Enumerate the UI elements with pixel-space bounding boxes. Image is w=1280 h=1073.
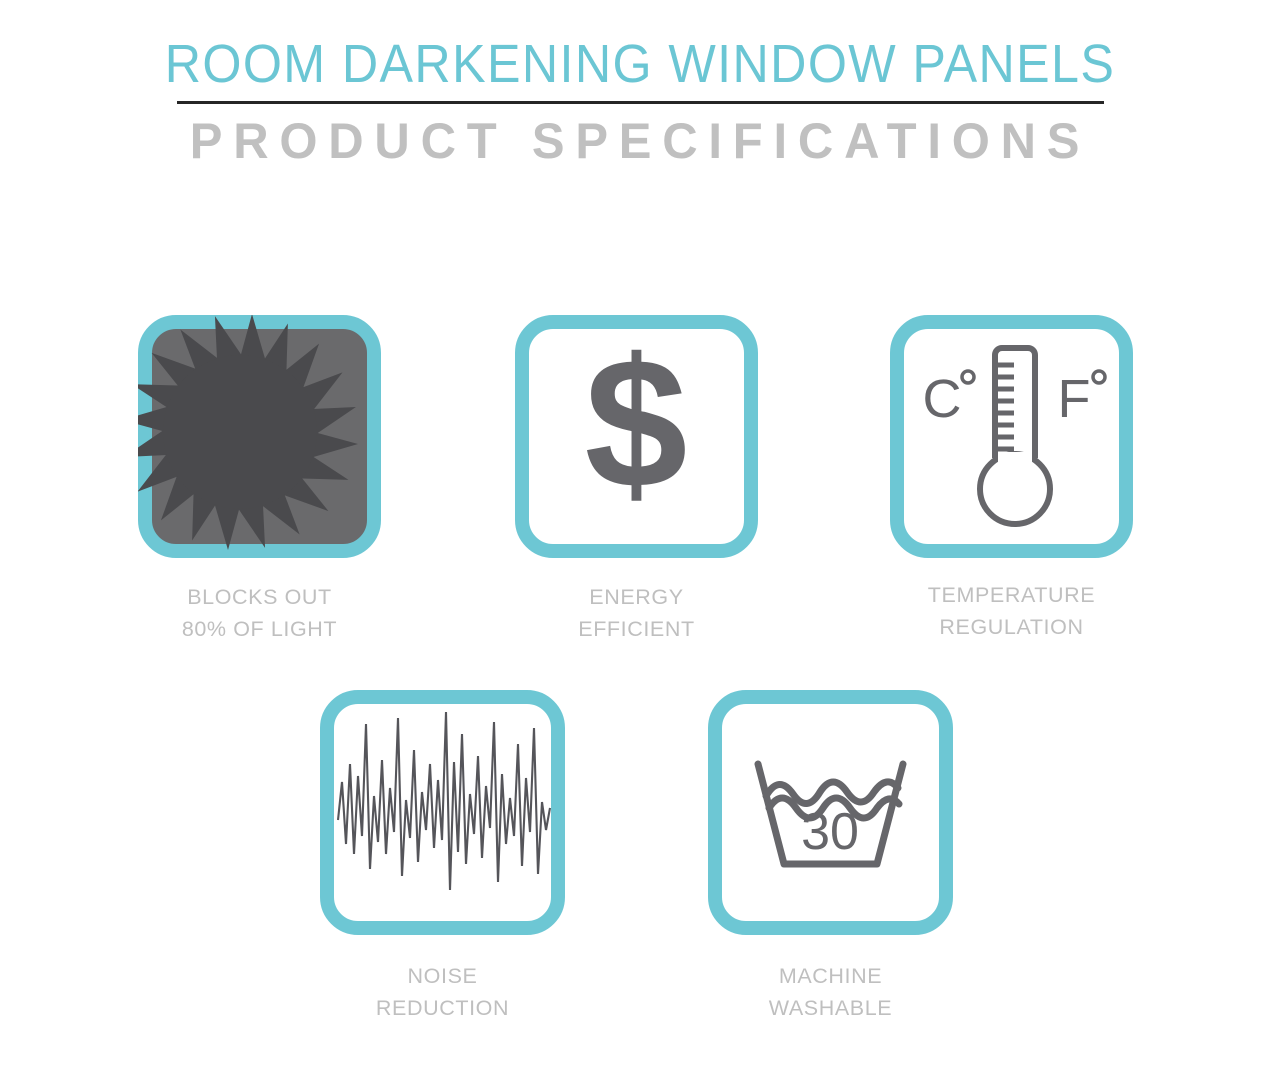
- feature-machine-washable: 30 MACHINE WASHABLE: [708, 690, 953, 1024]
- caption-line-2: REGULATION: [890, 611, 1133, 643]
- dollar-sign-icon: $: [529, 329, 744, 544]
- feature-energy-efficient: $ ENERGY EFFICIENT: [515, 315, 758, 645]
- caption-line-1: NOISE: [320, 960, 565, 992]
- svg-text:F: F: [1058, 369, 1091, 429]
- caption-line-2: EFFICIENT: [515, 613, 758, 645]
- svg-text:$: $: [585, 329, 688, 527]
- caption-line-2: WASHABLE: [708, 992, 953, 1024]
- sound-waveform-icon: [334, 704, 551, 921]
- caption-line-1: BLOCKS OUT: [138, 581, 381, 613]
- feature-noise-reduction: NOISE REDUCTION: [320, 690, 565, 1024]
- caption-machine-washable: MACHINE WASHABLE: [708, 960, 953, 1024]
- caption-blocks-out-light: BLOCKS OUT 80% OF LIGHT: [138, 581, 381, 645]
- icon-box-energy-efficient: $: [515, 315, 758, 558]
- wash-temperature-label: 30: [801, 803, 859, 861]
- svg-text:C: C: [923, 369, 962, 429]
- page-title: ROOM DARKENING WINDOW PANELS: [45, 0, 1235, 93]
- icon-box-noise-reduction: [320, 690, 565, 935]
- thermometer-icon: C F: [904, 329, 1119, 544]
- feature-temperature-regulation: C F TEMPERATURE REGULATION: [890, 315, 1133, 643]
- feature-blocks-out-light: BLOCKS OUT 80% OF LIGHT: [138, 315, 381, 645]
- icon-box-machine-washable: 30: [708, 690, 953, 935]
- caption-line-2: REDUCTION: [320, 992, 565, 1024]
- sun-blocked-icon: [138, 315, 381, 558]
- wash-tub-icon: 30: [722, 704, 939, 921]
- caption-line-2: 80% OF LIGHT: [138, 613, 381, 645]
- caption-temperature-regulation: TEMPERATURE REGULATION: [890, 579, 1133, 643]
- caption-line-1: ENERGY: [515, 581, 758, 613]
- caption-line-1: TEMPERATURE: [890, 579, 1133, 611]
- icon-box-temperature-regulation: C F: [890, 315, 1133, 558]
- page-header: ROOM DARKENING WINDOW PANELS PRODUCT SPE…: [0, 0, 1280, 169]
- caption-line-1: MACHINE: [708, 960, 953, 992]
- caption-energy-efficient: ENERGY EFFICIENT: [515, 581, 758, 645]
- page-subtitle: PRODUCT SPECIFICATIONS: [13, 104, 1267, 169]
- caption-noise-reduction: NOISE REDUCTION: [320, 960, 565, 1024]
- icon-box-blocks-out-light: [138, 315, 381, 558]
